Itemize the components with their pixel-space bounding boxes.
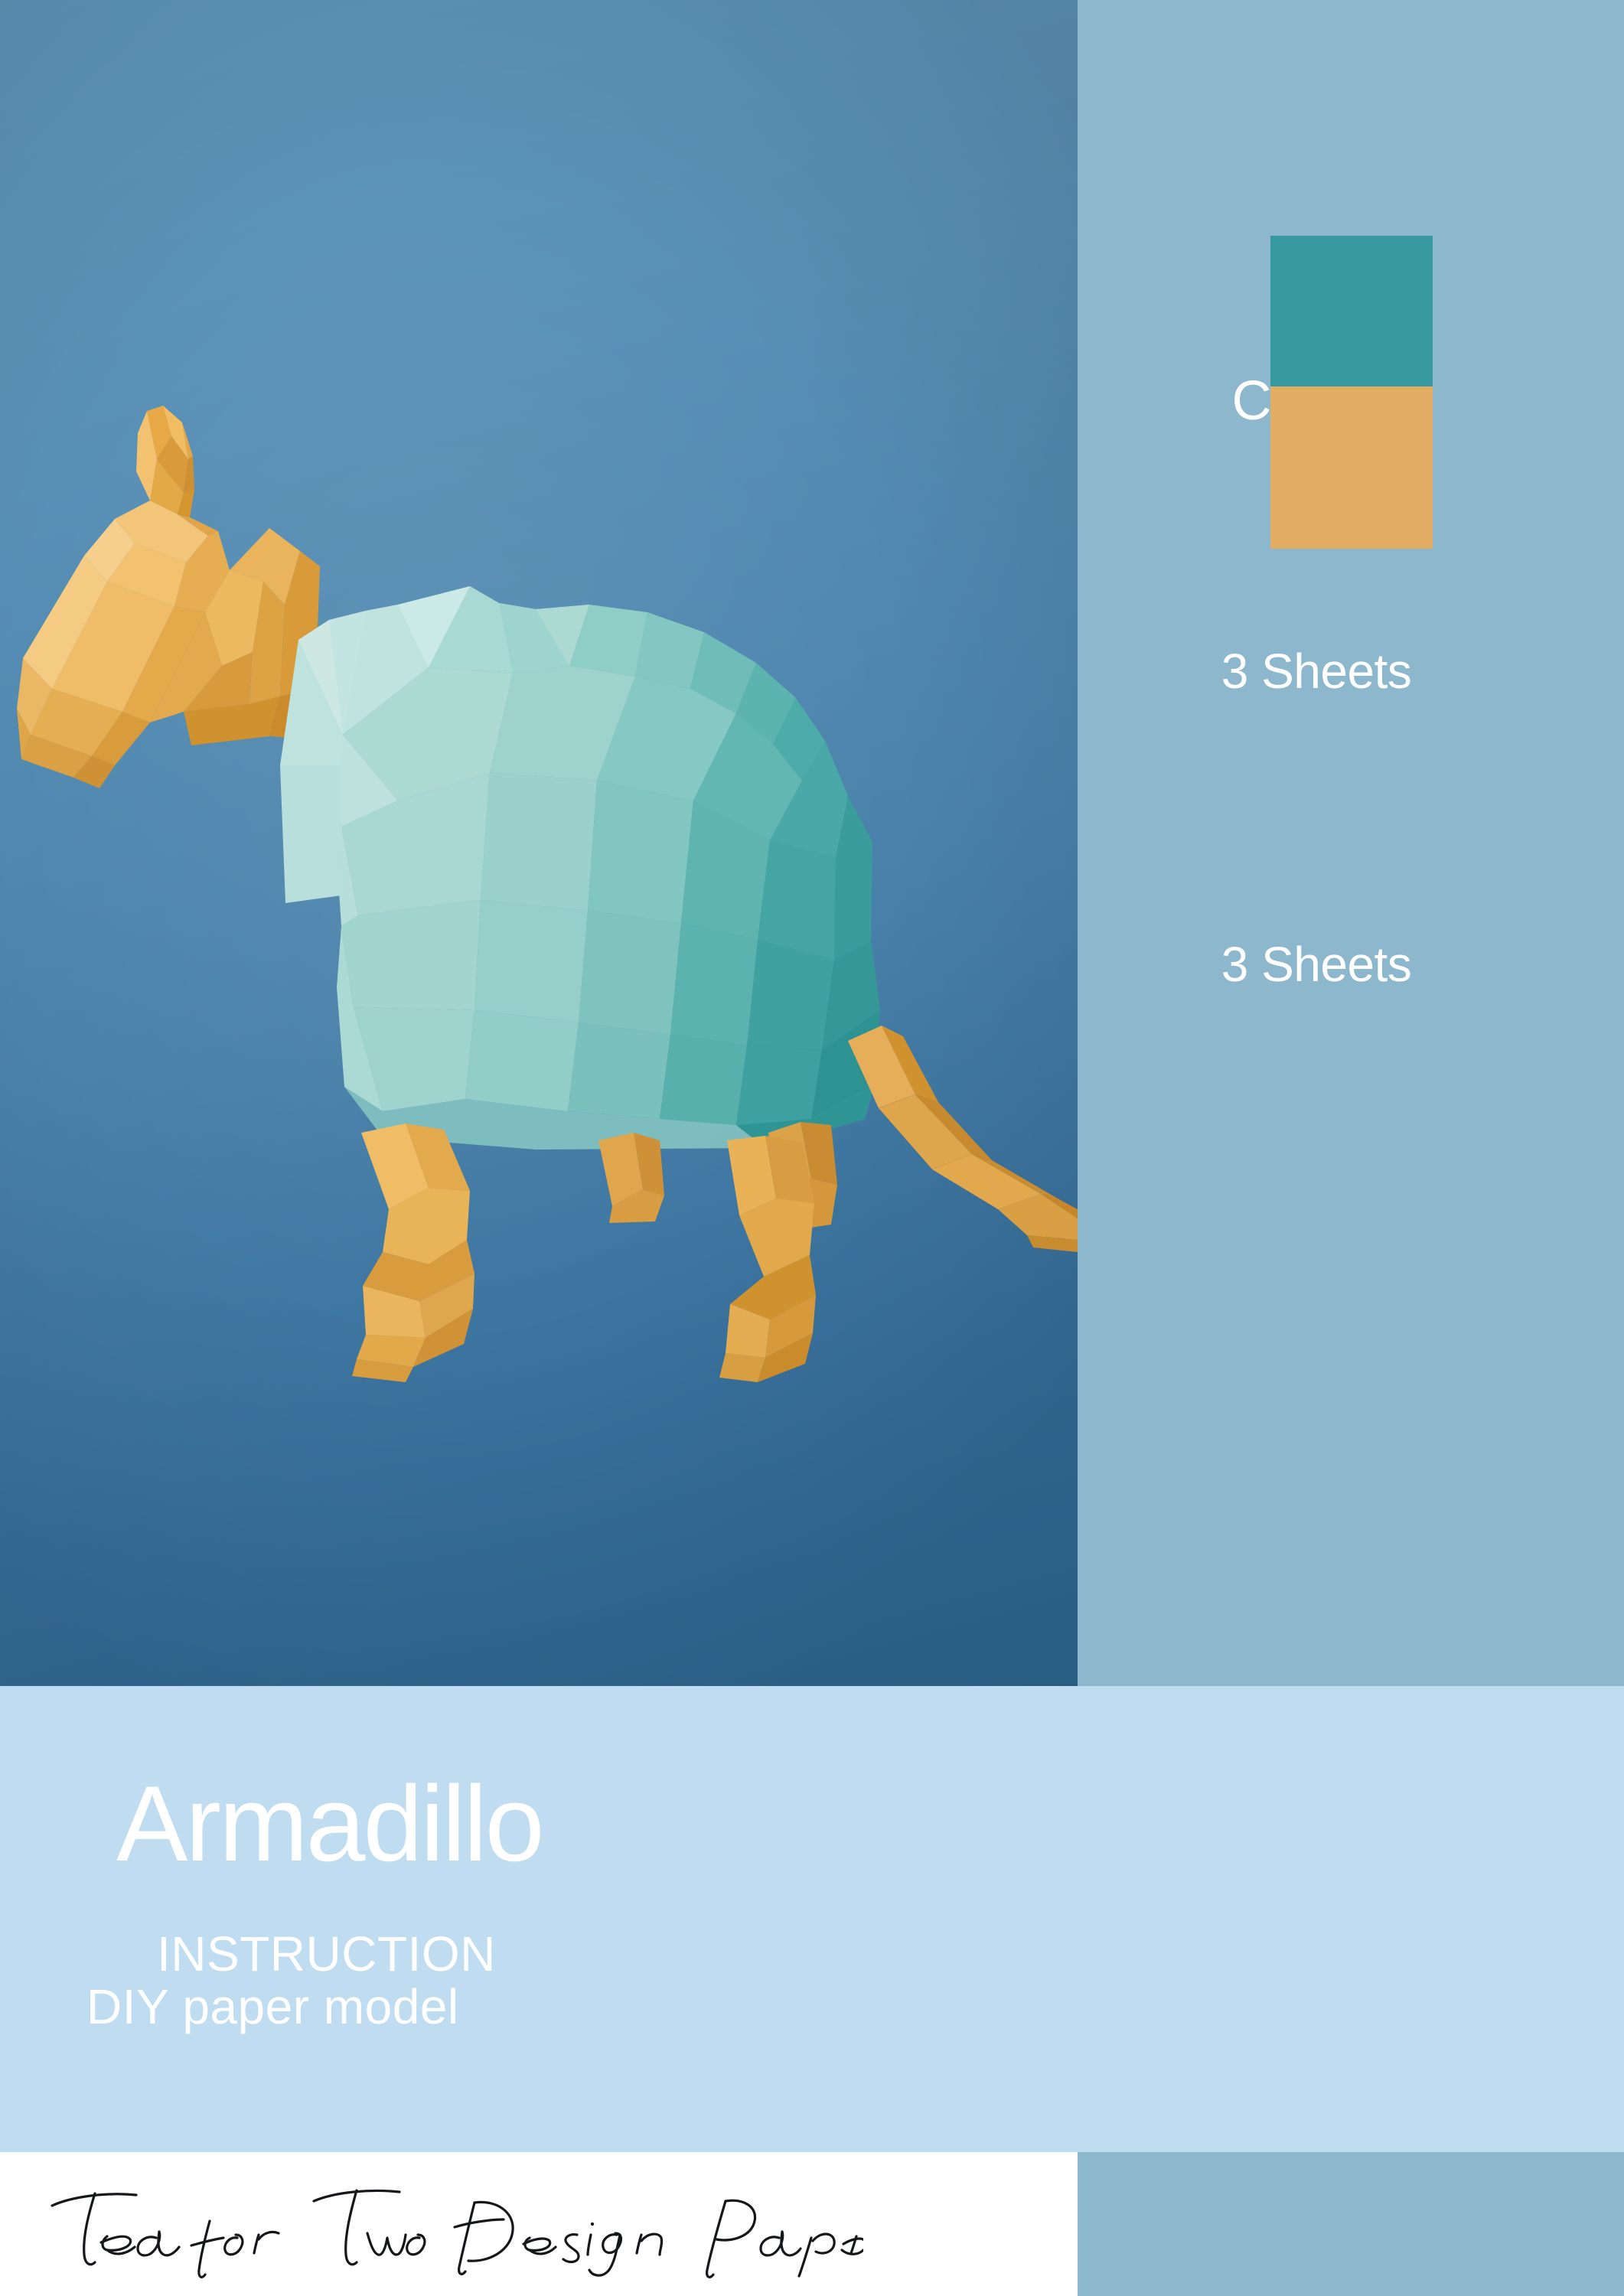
footer-accent-block bbox=[1078, 2152, 1624, 2296]
brand-signature bbox=[21, 2180, 863, 2279]
armadillo-tail bbox=[848, 1026, 1078, 1252]
subtitle-block: INSTRUCTION DIY paper model bbox=[157, 1928, 496, 2033]
teal-swatch bbox=[1270, 236, 1433, 398]
brand-signature-script bbox=[21, 2180, 863, 2279]
armadillo-head bbox=[17, 501, 285, 788]
footer bbox=[0, 2152, 1624, 2296]
armadillo-ear bbox=[136, 406, 194, 517]
orange-swatch bbox=[1270, 386, 1433, 549]
armadillo-model-illustration bbox=[0, 0, 1078, 1686]
orange-sheets-label: 3 Sheets bbox=[1078, 940, 1624, 989]
armadillo-front-legs bbox=[352, 1124, 664, 1382]
armadillo-hind-legs bbox=[719, 1122, 837, 1382]
teal-sheets-label: 3 Sheets bbox=[1078, 647, 1624, 696]
subtitle-line-2: DIY paper model bbox=[86, 1981, 496, 2033]
subtitle-line-1: INSTRUCTION bbox=[157, 1926, 496, 1981]
title-band: Armadillo INSTRUCTION DIY paper model bbox=[0, 1686, 1624, 2152]
colors-sidebar: Colors: 3 Sheets 3 Sheets bbox=[1078, 0, 1624, 1686]
product-photo bbox=[0, 0, 1078, 1686]
armadillo-shell bbox=[280, 586, 880, 1150]
page-title: Armadillo bbox=[116, 1770, 543, 1877]
poster-page: Colors: 3 Sheets 3 Sheets Armadillo INST… bbox=[0, 0, 1624, 2296]
